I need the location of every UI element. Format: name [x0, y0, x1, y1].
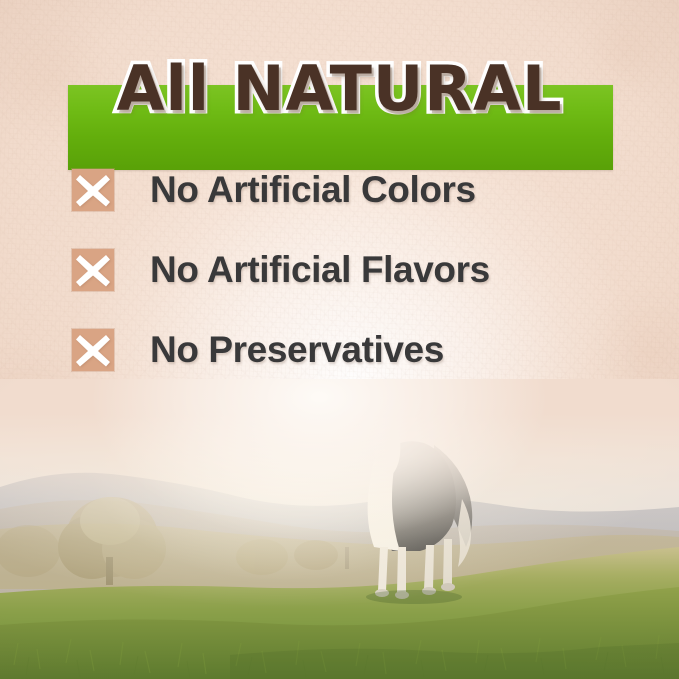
claim-label: No Artificial Colors: [150, 170, 476, 210]
claim-item-no-preservatives: No Preservatives: [72, 330, 632, 370]
claim-item-no-artificial-colors: No Artificial Colors: [72, 170, 632, 210]
x-mark-icon: [72, 249, 114, 291]
headline-title: All NATURAL: [0, 46, 679, 132]
x-mark-icon: [72, 329, 114, 371]
dog-landscape-photo: [0, 379, 679, 679]
all-natural-product-poster: All NATURAL No Artificial Colors No Arti…: [0, 0, 679, 679]
headline-banner: All NATURAL: [0, 46, 679, 132]
claim-label: No Preservatives: [150, 330, 444, 370]
claim-item-no-artificial-flavors: No Artificial Flavors: [72, 250, 632, 290]
x-mark-icon: [72, 169, 114, 211]
claim-label: No Artificial Flavors: [150, 250, 490, 290]
